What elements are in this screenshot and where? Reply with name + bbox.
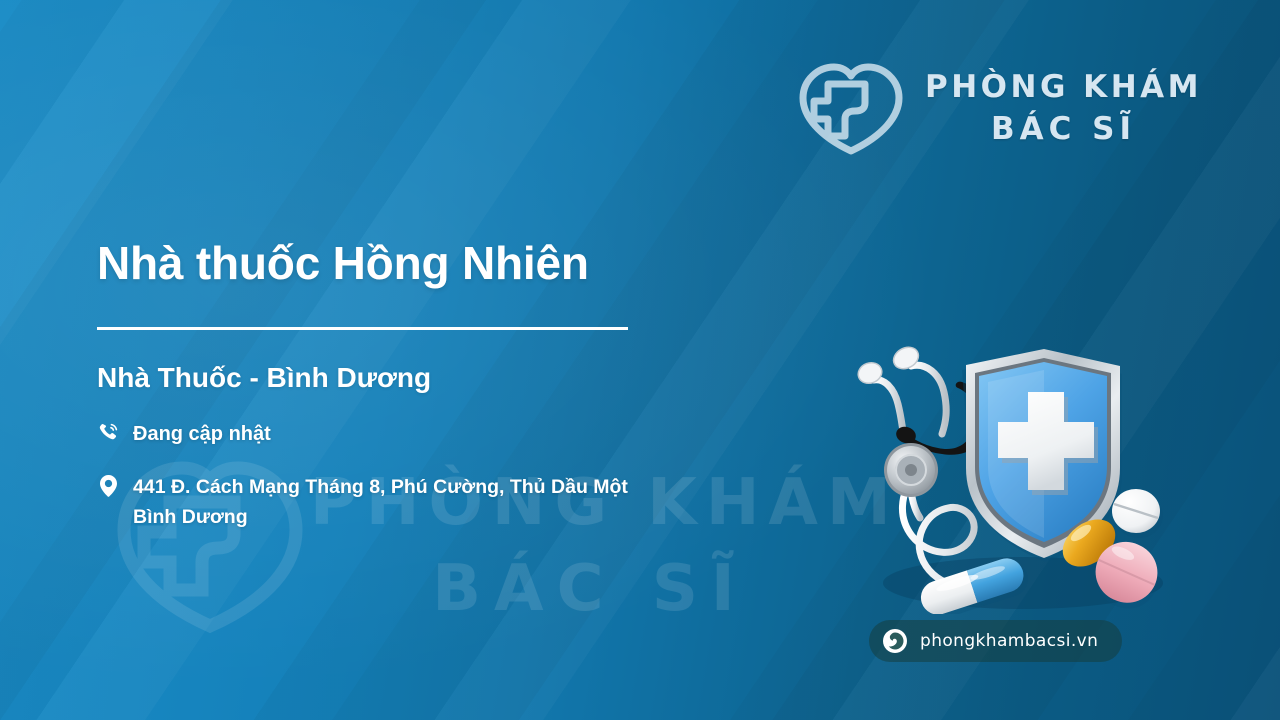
white-round-tablet [1112,489,1163,538]
address-text: 441 Đ. Cách Mạng Tháng 8, Phú Cường, Thủ… [133,472,628,532]
medical-shield-stethoscope-pills-illustration [848,318,1184,614]
address-row[interactable]: 441 Đ. Cách Mạng Tháng 8, Phú Cường, Thủ… [97,472,817,532]
stethoscope-chestpiece [884,443,938,497]
clinic-subtitle: Nhà Thuốc - Bình Dương [97,359,817,397]
website-badge[interactable]: phongkhambacsi.vn [869,620,1122,662]
heart-medical-cross-icon [797,58,905,158]
globe-icon [882,628,908,654]
stethoscope-earpieces [855,343,922,386]
map-pin-icon [97,472,119,497]
brand-logo-text: PHÒNG KHÁM BÁC SĨ [925,66,1202,150]
clinic-banner: PHÒNG KHÁM BÁC SĨ PHÒNG KHÁM BÁC SĨ Nhà … [0,0,1280,720]
phone-ringing-icon [97,419,119,443]
title-divider [97,327,628,330]
phone-row[interactable]: Đang cập nhật [97,419,817,449]
brand-logo[interactable]: PHÒNG KHÁM BÁC SĨ [797,58,1202,158]
page-title: Nhà thuốc Hồng Nhiên [97,232,817,294]
brand-logo-line-2: BÁC SĨ [925,108,1202,150]
clinic-info: Nhà thuốc Hồng Nhiên Nhà Thuốc - Bình Dư… [97,232,817,532]
brand-logo-line-1: PHÒNG KHÁM [925,66,1202,108]
phone-number: Đang cập nhật [133,419,271,449]
website-url: phongkhambacsi.vn [920,631,1098,651]
